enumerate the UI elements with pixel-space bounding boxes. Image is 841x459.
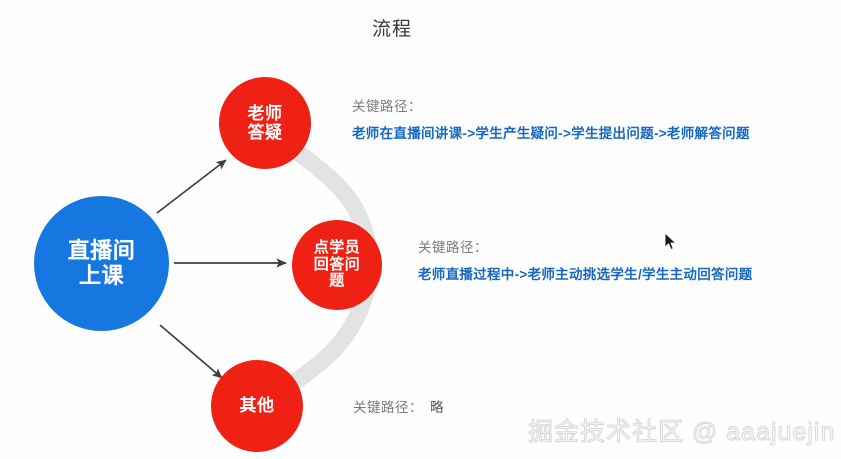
node-branch-3-label-line-1: 其他: [234, 396, 281, 415]
node-branch-3-label: 其他: [234, 396, 281, 415]
node-start-label-line-2: 上课: [62, 264, 142, 289]
node-branch-pick-student[interactable]: 点学员 回答问 题: [292, 220, 382, 310]
annotation-3-head: 关键路径：: [353, 400, 423, 415]
arrow-to-branch-3: [160, 325, 222, 378]
node-branch-2-label-line-3: 题: [308, 273, 367, 290]
watermark: 掘金技术社区 @ aaajuejin: [528, 412, 835, 448]
annotation-1-head: 关键路径：: [352, 95, 750, 115]
node-branch-2-label-line-2: 回答问: [308, 257, 367, 274]
node-branch-1-label-line-1: 老师: [242, 104, 289, 123]
node-branch-1-label: 老师 答疑: [242, 104, 289, 142]
node-branch-2-label-line-1: 点学员: [308, 240, 367, 257]
annotation-branch-2: 关键路径： 老师直播过程中->老师主动挑选学生/学生主动回答问题: [418, 236, 752, 283]
annotation-3-path: 略: [430, 400, 444, 415]
node-branch-1-label-line-2: 答疑: [242, 123, 289, 142]
annotation-1-path: 老师在直播间讲课->学生产生疑问->学生提出问题->老师解答问题: [352, 122, 750, 142]
annotation-2-head: 关键路径：: [418, 236, 752, 256]
annotation-branch-1: 关键路径： 老师在直播间讲课->学生产生疑问->学生提出问题->老师解答问题: [352, 95, 750, 142]
node-branch-2-label: 点学员 回答问 题: [308, 240, 367, 290]
annotation-2-path: 老师直播过程中->老师主动挑选学生/学生主动回答问题: [418, 263, 752, 283]
arrow-to-branch-1: [157, 160, 226, 213]
node-start-live-class[interactable]: 直播间 上课: [34, 196, 169, 331]
node-branch-other[interactable]: 其他: [211, 360, 303, 452]
page-title: 流程: [372, 14, 412, 41]
node-start-label-line-1: 直播间: [62, 239, 142, 264]
node-branch-teacher-qa[interactable]: 老师 答疑: [219, 77, 311, 169]
node-start-label: 直播间 上课: [62, 239, 142, 288]
annotation-branch-3: 关键路径：略: [353, 396, 444, 416]
